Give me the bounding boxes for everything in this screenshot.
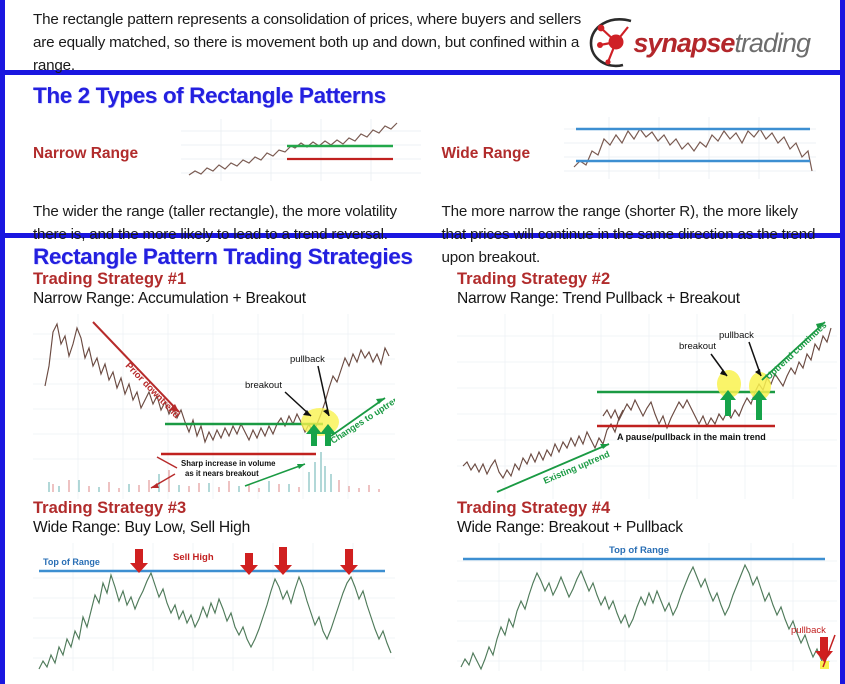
strategy-3-subtitle: Wide Range: Buy Low, Sell High [33, 519, 439, 537]
infographic-page: The rectangle pattern represents a conso… [0, 0, 845, 684]
annotation-volume-line2: as it nears breakout [185, 469, 259, 478]
annotation-pullback-2: pullback [719, 330, 754, 341]
annotation-volume-line1: Sharp increase in volume [181, 459, 276, 468]
strategy-1-subtitle: Narrow Range: Accumulation + Breakout [33, 290, 439, 308]
narrow-range-mini-chart [181, 119, 421, 181]
strategy-1-chart: Prior downtrend breakout pullback Change… [33, 314, 395, 499]
strategy-1-number: Trading Strategy #1 [33, 270, 439, 289]
annotation-top-of-range-3: Top of Range [43, 557, 100, 567]
type-label-narrow: Narrow Range [33, 145, 138, 163]
logo-primary-text: synapse [633, 28, 734, 58]
annotation-sell-high: Sell High [173, 552, 214, 563]
annotation-breakout-1: breakout [245, 380, 282, 391]
strategies-heading: Rectangle Pattern Trading Strategies [33, 244, 840, 270]
strategy-4-subtitle: Wide Range: Breakout + Pullback [457, 519, 845, 537]
strategy-2-number: Trading Strategy #2 [457, 270, 845, 289]
annotation-pullback-4: pullback [791, 625, 826, 636]
logo-secondary-text: trading [734, 28, 810, 58]
annotation-breakout-2: breakout [679, 341, 716, 352]
strategy-card-2: Trading Strategy #2 Narrow Range: Trend … [439, 270, 845, 499]
strategy-4-number: Trading Strategy #4 [457, 499, 845, 518]
annotation-top-of-range-4: Top of Range [609, 545, 669, 556]
strategy-card-4: Trading Strategy #4 Wide Range: Breakout… [439, 499, 845, 671]
synapse-node-icon [587, 15, 645, 71]
strategy-3-chart: Top of Range Sell High [33, 543, 395, 671]
strategies-section: Rectangle Pattern Trading Strategies Tra… [5, 238, 840, 674]
wide-range-mini-chart [564, 117, 816, 179]
intro-section: The rectangle pattern represents a conso… [5, 0, 840, 75]
brand-logo: synapsetrading [587, 6, 828, 71]
strategy-2-chart: breakout pullback Uptrend continues [457, 314, 837, 499]
strategy-2-subtitle: Narrow Range: Trend Pullback + Breakout [457, 290, 845, 308]
annotation-pullback-1: pullback [290, 354, 325, 365]
types-heading: The 2 Types of Rectangle Patterns [33, 83, 822, 109]
strategy-3-number: Trading Strategy #3 [33, 499, 439, 518]
strategy-card-3: Trading Strategy #3 Wide Range: Buy Low,… [33, 499, 439, 671]
intro-paragraph: The rectangle pattern represents a conso… [33, 6, 587, 77]
annotation-pause-note: A pause/pullback in the main trend [617, 432, 766, 442]
strategy-card-1: Trading Strategy #1 Narrow Range: Accumu… [33, 270, 439, 499]
type-label-wide: Wide Range [442, 145, 531, 163]
types-section: The 2 Types of Rectangle Patterns Narrow… [5, 75, 840, 238]
strategy-4-chart: Top of Range pullback [457, 543, 837, 671]
